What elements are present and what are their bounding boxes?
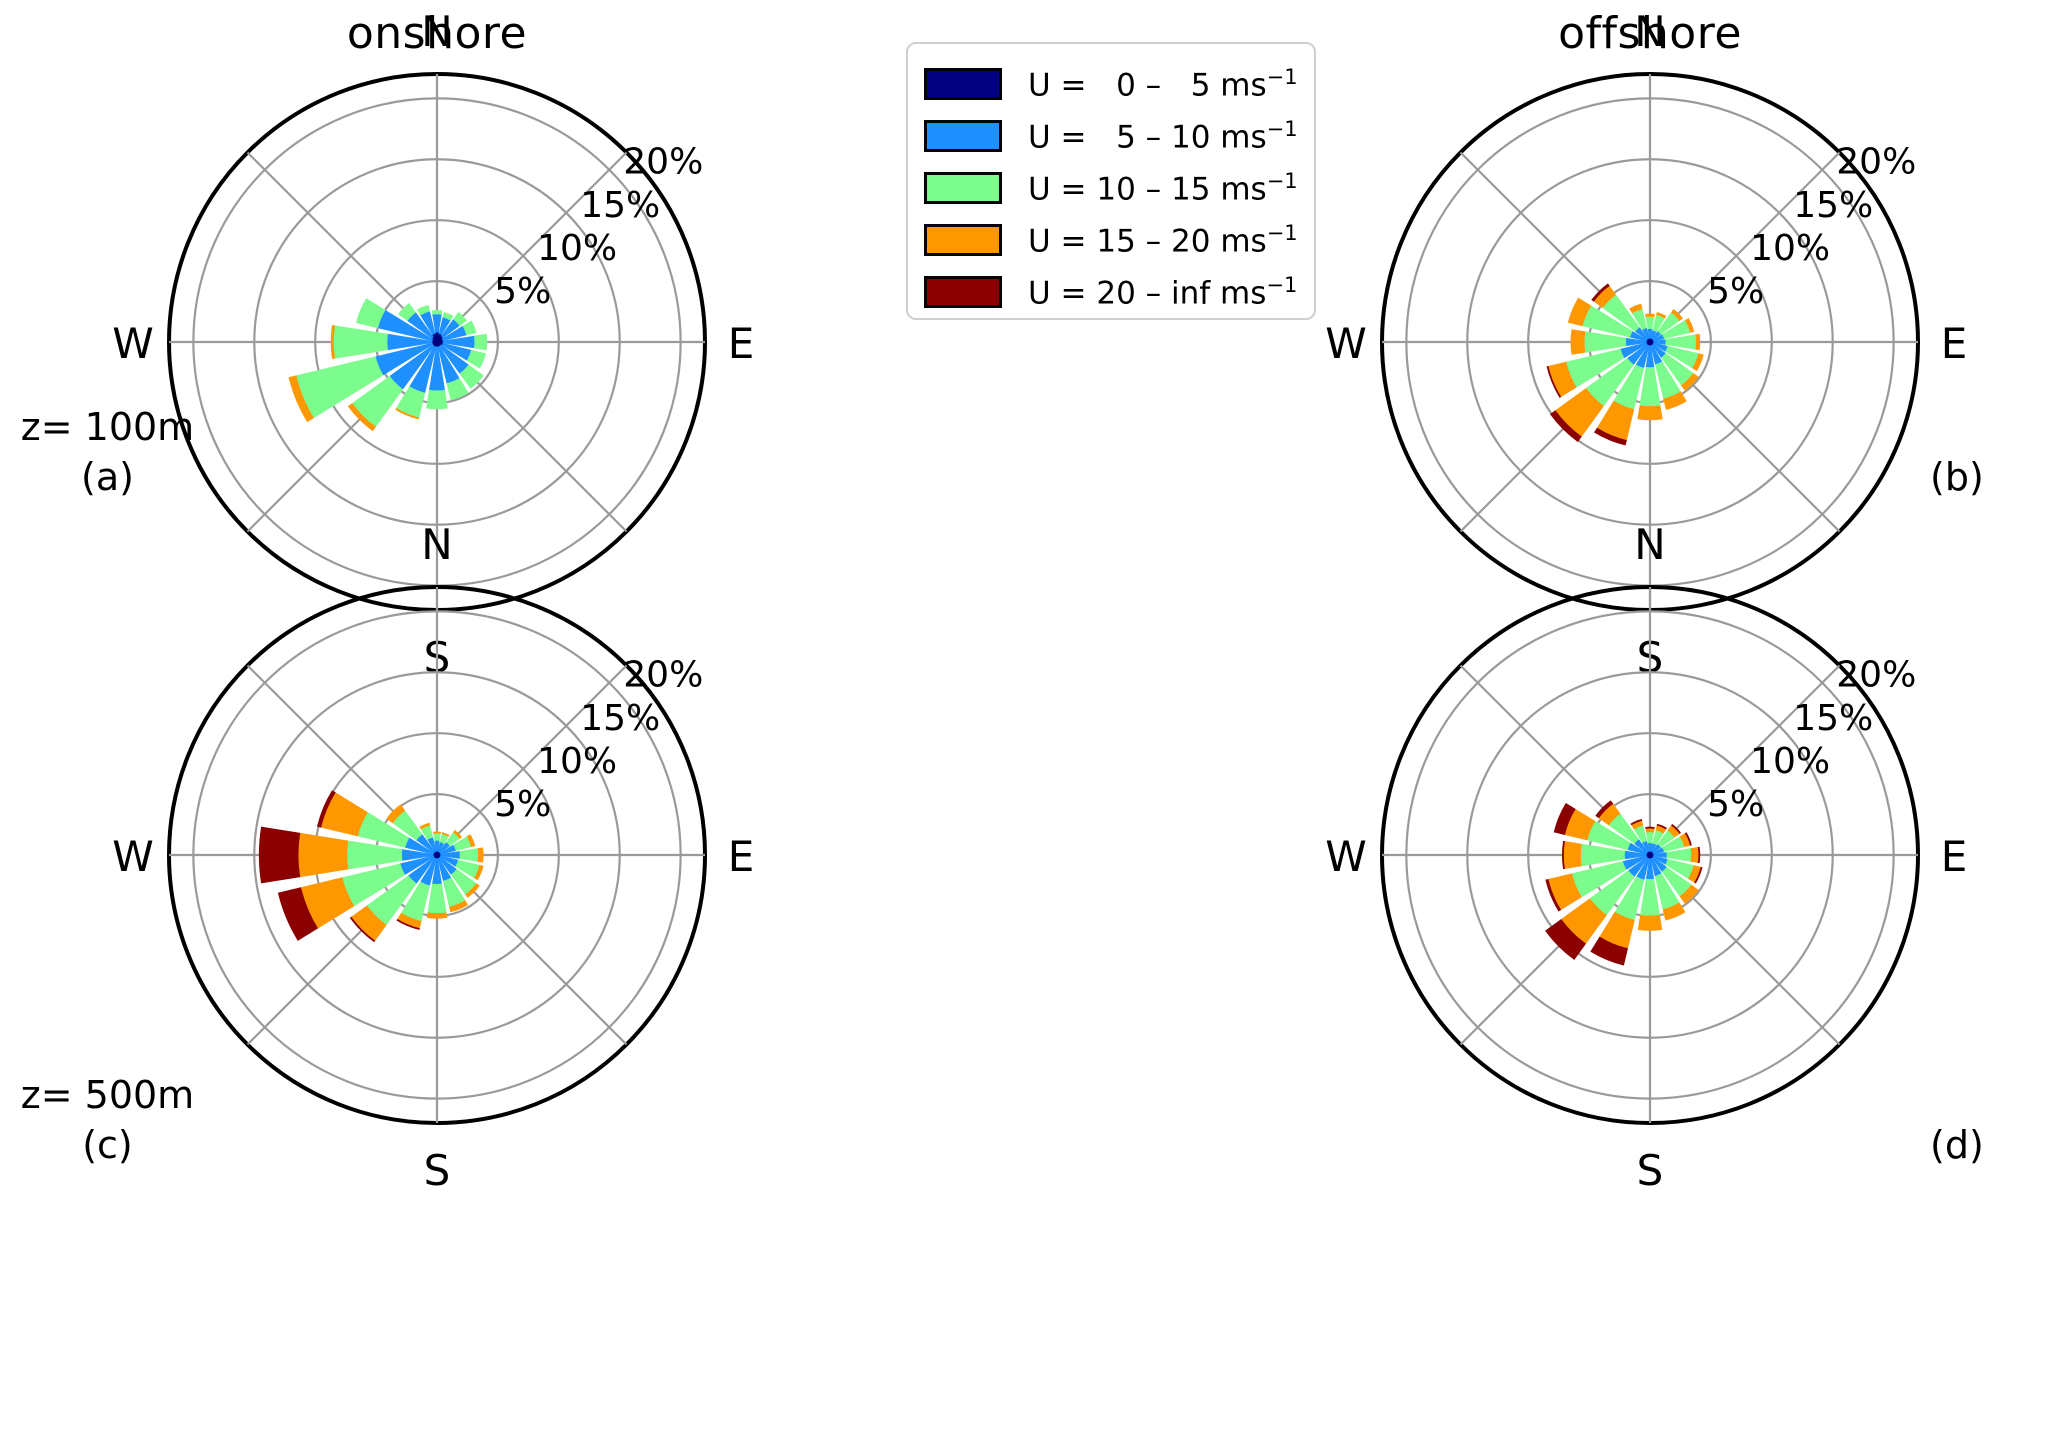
wedge-W-15-20 bbox=[1571, 330, 1585, 355]
radial-tick-label-15%: 15% bbox=[1793, 698, 1873, 739]
compass-label-W: W bbox=[1325, 832, 1367, 881]
radial-tick-label-20%: 20% bbox=[623, 655, 703, 696]
radial-tick-label-10%: 10% bbox=[537, 741, 617, 782]
wedge-S-10-15 bbox=[1640, 367, 1660, 406]
wedge-W-10-15 bbox=[347, 841, 402, 869]
radial-tick-label-20%: 20% bbox=[623, 142, 703, 183]
legend-label: U = 15 – 20 ms−1 bbox=[1028, 223, 1298, 257]
wedge-N-15-20 bbox=[433, 832, 440, 833]
wedge-S-10-15 bbox=[1640, 879, 1659, 916]
wedge-W-20-inf bbox=[259, 827, 300, 883]
compass-label-E: E bbox=[728, 832, 755, 881]
wedge-E-15-20 bbox=[1696, 334, 1700, 350]
wind-speed-legend: U = 0 – 5 ms−1U = 5 – 10 ms−1U = 10 – 15… bbox=[906, 42, 1316, 320]
wedge-E-15-20 bbox=[478, 848, 483, 863]
wedge-E-15-20 bbox=[1691, 847, 1699, 862]
legend-row-10-15: U = 10 – 15 ms−1 bbox=[924, 162, 1296, 214]
legend-row-20-inf: U = 20 – inf ms−1 bbox=[924, 266, 1296, 318]
wedge-W-15-20 bbox=[1564, 841, 1582, 868]
legend-label: U = 10 – 15 ms−1 bbox=[1028, 171, 1298, 205]
radial-tick-label-15%: 15% bbox=[580, 185, 660, 226]
radial-tick-label-5%: 5% bbox=[1707, 271, 1764, 312]
wind-rose-figure: onshore offshore z= 100m (a) z= 500m (c)… bbox=[0, 0, 2067, 1435]
legend-row-5-10: U = 5 – 10 ms−1 bbox=[924, 110, 1296, 162]
wedge-W-15-20 bbox=[298, 833, 348, 877]
compass-label-S: S bbox=[1637, 1146, 1664, 1195]
radial-tick-label-10%: 10% bbox=[1750, 741, 1830, 782]
radial-tick-label-20%: 20% bbox=[1836, 655, 1916, 696]
legend-row-15-20: U = 15 – 20 ms−1 bbox=[924, 214, 1296, 266]
wedge-S-10-15 bbox=[426, 390, 447, 409]
compass-label-E: E bbox=[1941, 319, 1968, 368]
wedge-E-10-15 bbox=[460, 848, 479, 861]
wedge-N-20-inf bbox=[1646, 827, 1655, 829]
wedge-N-10-15 bbox=[434, 833, 441, 840]
compass-label-N: N bbox=[1634, 520, 1665, 569]
compass-label-W: W bbox=[112, 319, 154, 368]
compass-label-E: E bbox=[728, 319, 755, 368]
wedge-N-10-15 bbox=[432, 310, 442, 314]
wedge-S-15-20 bbox=[427, 913, 447, 919]
wedge-W-10-15 bbox=[333, 326, 387, 359]
compass-label-W: W bbox=[1325, 319, 1367, 368]
wedge-N-15-20 bbox=[1646, 314, 1655, 317]
compass-label-W: W bbox=[112, 832, 154, 881]
wedge-S-15-20 bbox=[1638, 915, 1662, 930]
legend-swatch-icon bbox=[924, 224, 1002, 256]
legend-swatch-icon bbox=[924, 120, 1002, 152]
radial-tick-label-5%: 5% bbox=[494, 271, 551, 312]
windrose-panel-d: NESW5%10%15%20% bbox=[1262, 467, 2038, 1243]
radial-tick-label-15%: 15% bbox=[1793, 185, 1873, 226]
legend-label: U = 20 – inf ms−1 bbox=[1028, 275, 1297, 309]
compass-label-E: E bbox=[1941, 832, 1968, 881]
radial-tick-label-10%: 10% bbox=[537, 228, 617, 269]
wedge-S-10-15 bbox=[428, 884, 446, 914]
legend-swatch-icon bbox=[924, 172, 1002, 204]
radial-tick-label-10%: 10% bbox=[1750, 228, 1830, 269]
compass-label-N: N bbox=[421, 7, 452, 56]
legend-row-0-5: U = 0 – 5 ms−1 bbox=[924, 58, 1296, 110]
compass-label-S: S bbox=[424, 1146, 451, 1195]
legend-swatch-icon bbox=[924, 276, 1002, 308]
wedge-E-10-15 bbox=[1667, 848, 1692, 861]
wedge-S-15-20 bbox=[1638, 406, 1663, 420]
legend-label: U = 5 – 10 ms−1 bbox=[1028, 119, 1298, 153]
wedge-E-10-15 bbox=[474, 334, 487, 350]
wedge-N-15-20 bbox=[1646, 828, 1654, 832]
compass-label-N: N bbox=[421, 520, 452, 569]
wedge-N-10-15 bbox=[1646, 832, 1653, 843]
compass-label-N: N bbox=[1634, 7, 1665, 56]
radial-tick-label-15%: 15% bbox=[580, 698, 660, 739]
wedge-N-10-15 bbox=[1646, 316, 1654, 328]
windrose-panel-c: NESW5%10%15%20% bbox=[49, 467, 825, 1243]
radial-tick-label-5%: 5% bbox=[1707, 784, 1764, 825]
legend-label: U = 0 – 5 ms−1 bbox=[1028, 67, 1298, 101]
radial-tick-label-5%: 5% bbox=[494, 784, 551, 825]
radial-tick-label-20%: 20% bbox=[1836, 142, 1916, 183]
legend-swatch-icon bbox=[924, 68, 1002, 100]
